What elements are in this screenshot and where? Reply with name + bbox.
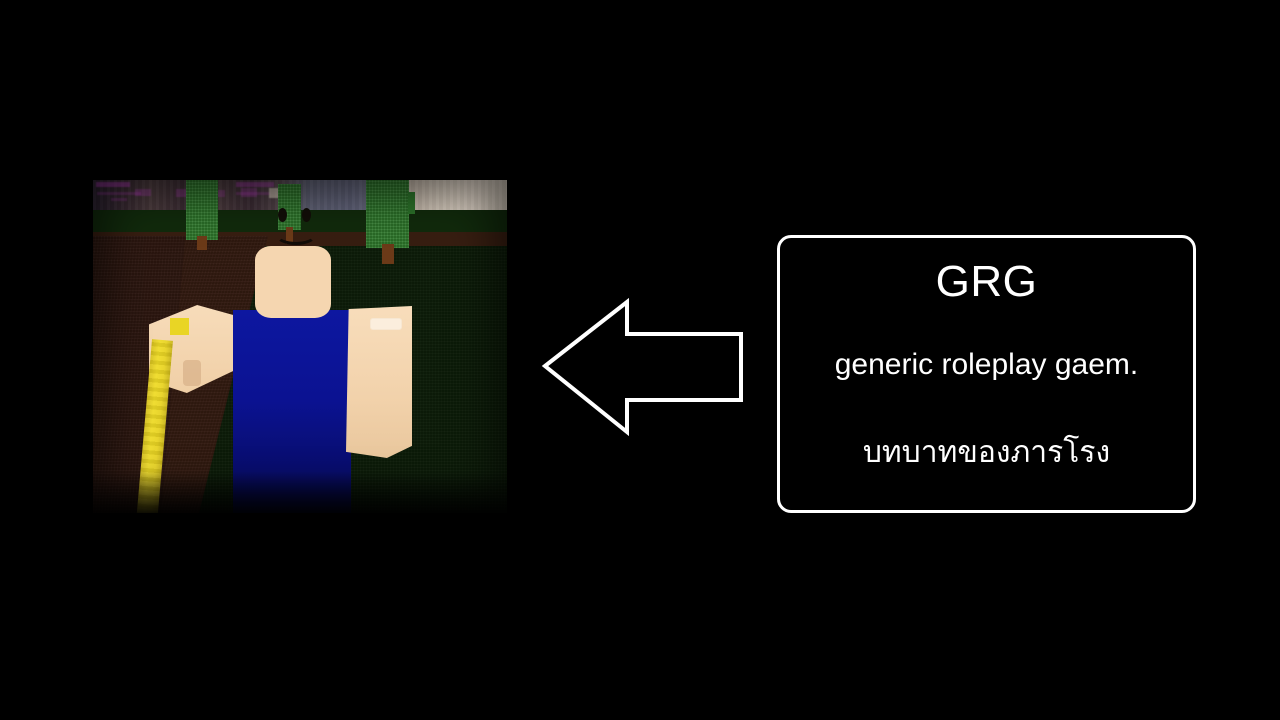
card-thai-line: บทบาทของภารโรง	[780, 436, 1193, 471]
arrow-container	[540, 296, 746, 438]
left-pointing-arrow-icon	[540, 296, 746, 438]
broom-texture	[137, 339, 173, 513]
avatar-arm-tag	[370, 318, 402, 330]
card-title: GRG	[780, 260, 1193, 304]
info-card: GRG generic roleplay gaem. บทบาทของภารโร…	[777, 235, 1196, 513]
player-avatar	[93, 180, 507, 513]
avatar-eye-right	[302, 208, 311, 222]
avatar-torso	[233, 310, 351, 513]
broom-handle	[137, 339, 173, 513]
avatar-eye-left	[278, 208, 287, 222]
game-screenshot	[93, 180, 507, 513]
avatar-head	[255, 246, 331, 318]
avatar-smile	[275, 224, 317, 245]
broom-top-nub	[170, 318, 189, 335]
card-subtitle: generic roleplay gaem.	[780, 350, 1193, 380]
video-frame: GRG generic roleplay gaem. บทบาทของภารโร…	[0, 0, 1280, 720]
avatar-left-hand	[183, 360, 201, 386]
